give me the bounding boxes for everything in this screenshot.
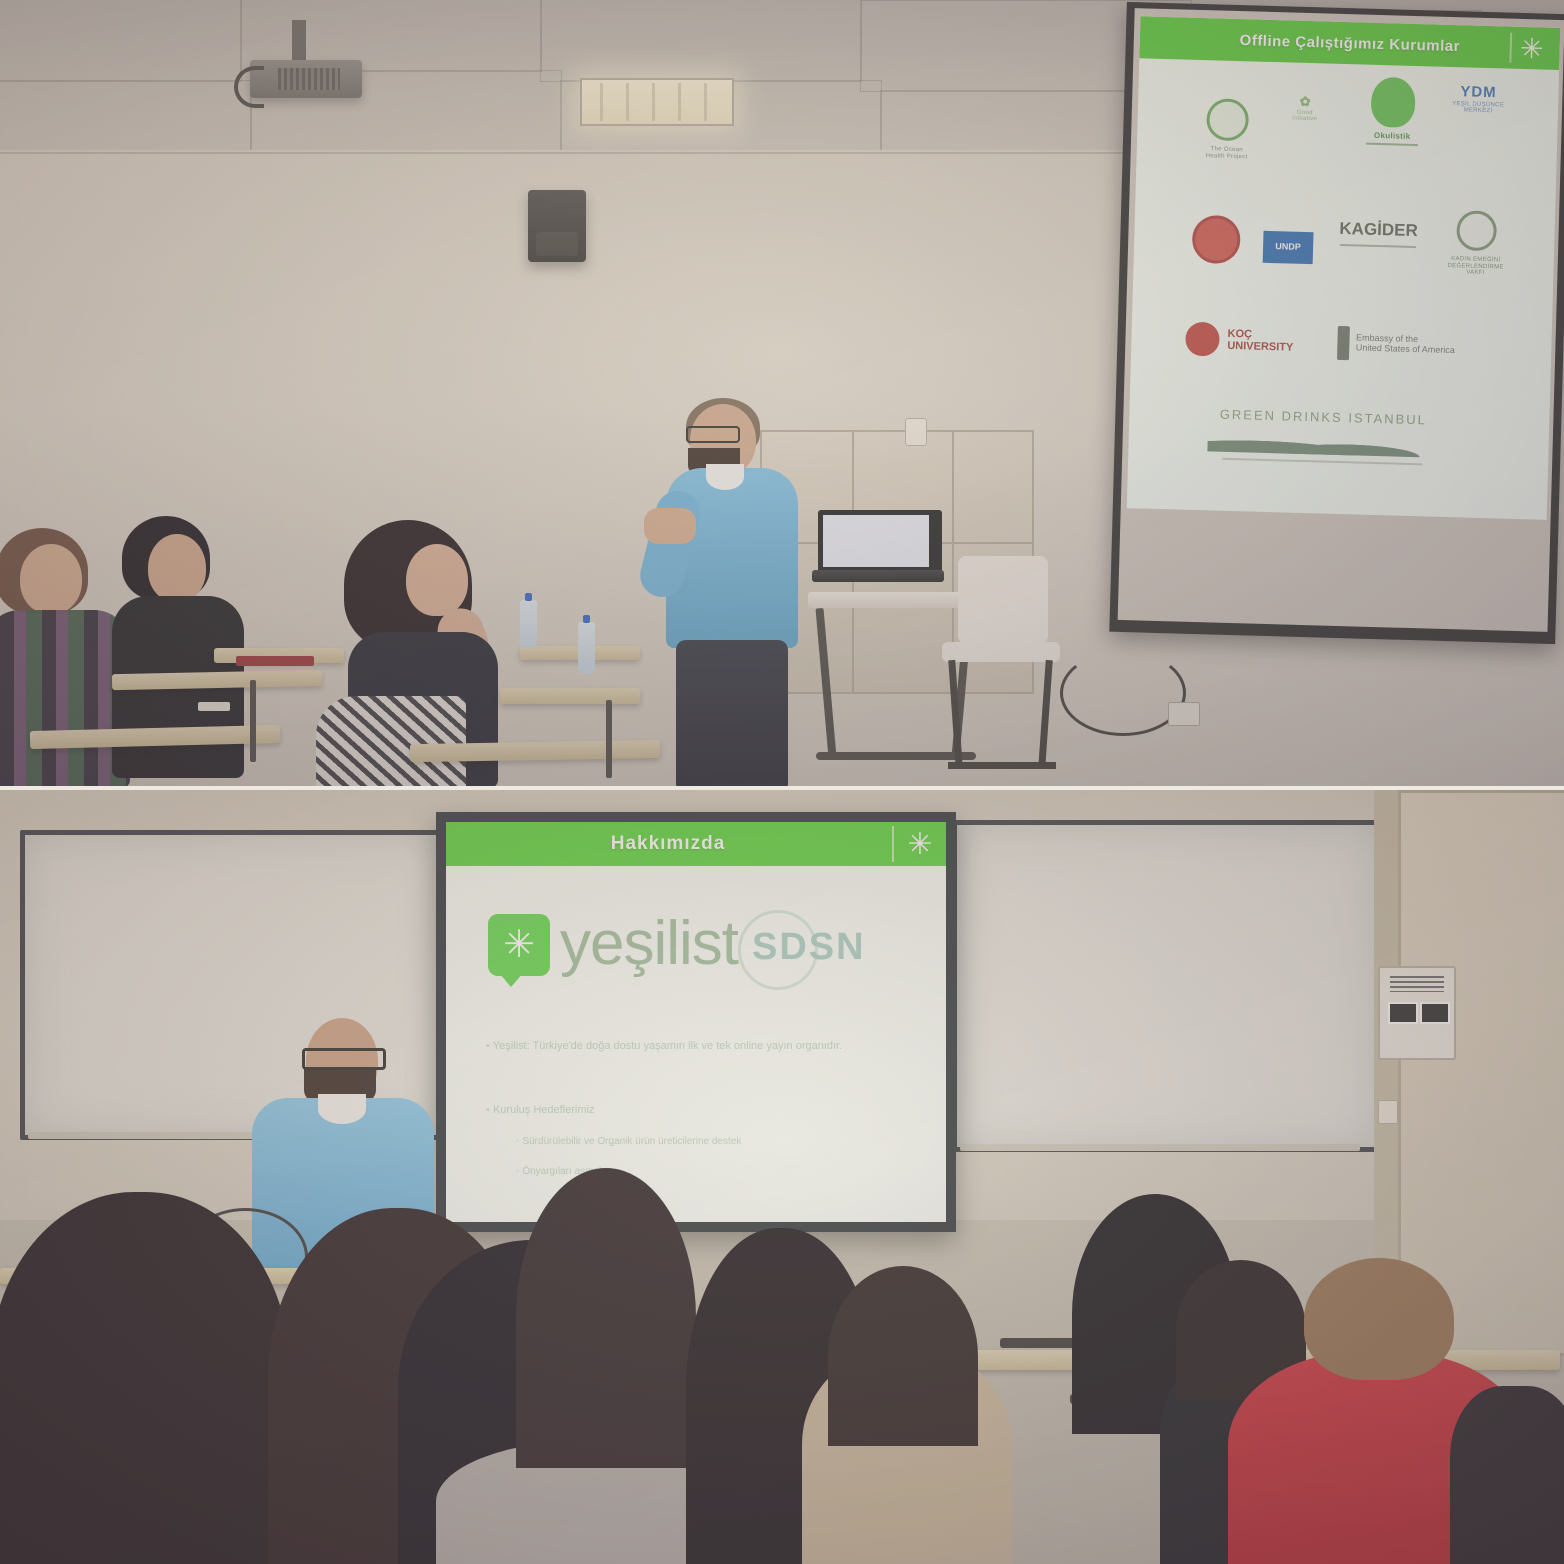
logo-kagider: KAGİDER [1330,200,1428,269]
asterisk-logo-icon: ✳ [1513,29,1550,68]
bullet-2: ▪ Kuruluş Hedeflerimiz [486,1104,594,1116]
yesilist-wordmark: yeşilist [560,908,738,979]
logo-good-initiative: ✿ Good Initiative [1265,72,1345,146]
attendee-red-sweater-hair [1304,1258,1454,1380]
glasses-icon [686,426,740,443]
bottom-photo: Hakkımızda ✳ ✳ yeşilist SDSN ▪ Yeşilist:… [0,790,1564,1564]
laptop-screen [823,515,929,567]
logo-green-drinks-istanbul: GREEN DRINKS ISTANBUL [1172,395,1474,477]
logo-us-embassy: Embassy of the United States of America [1311,313,1483,376]
wall-control-panel [1378,966,1456,1060]
shirt-collar [706,464,744,490]
silhouette-head-6 [828,1266,978,1446]
presenter-top [650,398,830,786]
logo-the-ocean-health-project: The Ocean Health Project [1188,90,1266,170]
bullet-marker-icon: ▪ [486,1040,493,1052]
whiteboard-right [952,820,1382,1152]
slide-header-bar-bottom: Hakkımızda ✳ [446,822,946,866]
whiteboard-tray [960,1144,1360,1151]
ceiling-projector [250,20,380,100]
bullet-3: ▫ Sürdürülebilir ve Organik ürün üretici… [516,1136,741,1147]
asterisk-logo-icon-bottom: ✳ [894,822,946,866]
logo-undp: UNDP [1251,216,1325,280]
patterned-skirt [316,696,466,786]
silhouette-head-4 [516,1168,696,1468]
water-bottle-2 [578,622,595,674]
logo-kedv: KADIN EMEĞİNİ DEĞERLENDİRME VAKFI [1429,196,1524,291]
projection-screen: Offline Çalıştığımız Kurumlar ✳ The Ocea… [1109,2,1564,644]
chair [942,556,1062,772]
bullet-1: ▪ Yeşilist: Türkiye'de doğa dostu yaşamı… [486,1040,842,1052]
bullet-marker-icon-3: ▫ [516,1136,522,1147]
laptop [812,510,948,596]
bullet-marker-icon-2: ▪ [486,1104,493,1116]
logo-ministry [1179,203,1253,275]
trousers [676,640,788,786]
logo-okulistik: Okulistik [1349,64,1438,158]
glasses-icon-bottom [302,1048,386,1070]
wall-speaker [528,190,586,262]
top-photo: Offline Çalıştığımız Kurumlar ✳ The Ocea… [0,0,1564,786]
fluorescent-light-panel [580,78,734,126]
slide-offline-kurumlar: Offline Çalıştığımız Kurumlar ✳ The Ocea… [1127,16,1561,520]
shirt-collar-bottom [318,1094,366,1124]
water-bottle-1 [520,600,537,648]
logo-ydm: YDM YEŞİL DÜŞÜNCEMERKEZİ [1437,61,1519,139]
photo-collage: Offline Çalıştığımız Kurumlar ✳ The Ocea… [0,0,1564,1564]
projection-screen-bottom: Hakkımızda ✳ ✳ yeşilist SDSN ▪ Yeşilist:… [436,812,956,1232]
silhouette-head-1 [0,1192,290,1564]
logo-koc-university: KOÇ UNIVERSITY [1179,308,1301,373]
desk-row-5 [500,688,640,704]
collage-divider [0,786,1564,790]
hands [644,508,696,544]
wall-outlet-right [1168,702,1200,726]
light-switch [1378,1100,1398,1124]
slide-hakkimizda: Hakkımızda ✳ ✳ yeşilist SDSN ▪ Yeşilist:… [446,822,946,1222]
bullet-marker-icon-4: ▫ [516,1166,522,1177]
asterisk-glyph-icon: ✳ [503,926,535,964]
wall-outlet [905,418,927,446]
red-notebook [236,656,314,666]
slide-title-bottom: Hakkımızda [446,822,946,866]
silhouette-far-right [1450,1386,1564,1564]
sdsn-wordmark: SDSN [752,926,866,969]
phone [198,702,230,711]
yesilist-logo-mark: ✳ [488,914,550,976]
